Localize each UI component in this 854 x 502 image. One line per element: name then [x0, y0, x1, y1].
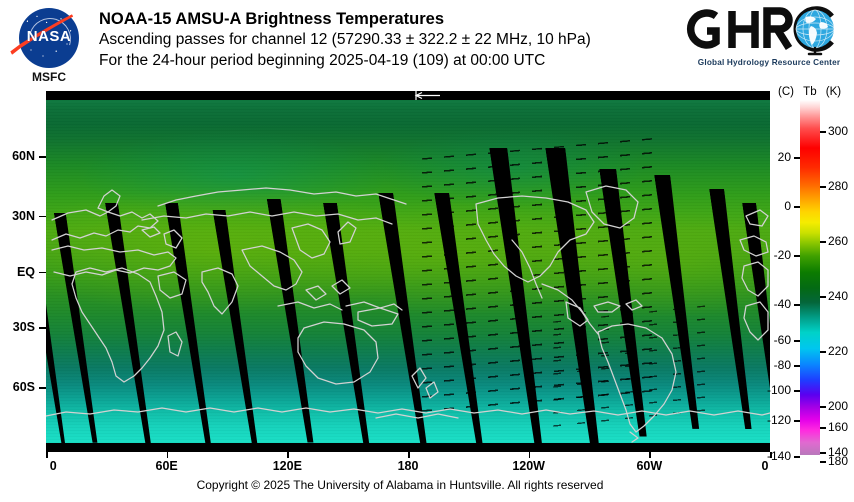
cb-tick-c [794, 365, 800, 367]
map-panel[interactable] [46, 91, 770, 452]
title-block: NOAA-15 AMSU-A Brightness Temperatures A… [99, 9, 679, 71]
lat-tick [39, 387, 46, 389]
cb-tick-k [820, 406, 826, 408]
cb-tick-k [820, 427, 826, 429]
coastline-overlay [46, 100, 770, 443]
cb-label-c-m80: -80 [774, 358, 791, 372]
subtitle-channel: Ascending passes for channel 12 (57290.3… [99, 29, 679, 50]
lon-tick [287, 452, 289, 458]
visualization-page: NASA MSFC NOAA-15 AMSU-A Brightness Temp… [0, 0, 854, 502]
cb-label-c-m100: -100 [767, 383, 791, 397]
cb-label-k-140: 140 [828, 445, 848, 459]
longitude-axis: 0 60E 120E 180 120W 60W 0 [46, 452, 770, 478]
cb-tick-k [820, 131, 826, 133]
lon-tick [649, 452, 651, 458]
cb-tick-c [794, 206, 800, 208]
map-pointer-icon [410, 91, 444, 100]
cb-label-c-m140: -140 [767, 449, 791, 463]
lon-label-0w: 0 [50, 459, 57, 473]
lon-label-120w: 120W [512, 459, 545, 473]
lon-label-120e: 120E [273, 459, 302, 473]
lon-tick [46, 452, 48, 458]
cb-tick-c [794, 304, 800, 306]
cb-tick-k [820, 186, 826, 188]
cb-label-c-m120: -120 [767, 413, 791, 427]
nasa-logo: NASA MSFC [10, 6, 88, 86]
lat-tick [39, 272, 46, 274]
lat-label-60s: 60S [13, 380, 35, 394]
ghrc-tagline: Global Hydrology Resource Center [687, 58, 851, 67]
lat-label-30s: 30S [13, 320, 35, 334]
subtitle-period: For the 24-hour period beginning 2025-04… [99, 50, 679, 71]
cb-tick-c [794, 157, 800, 159]
colorbar-header: (C) Tb (K) [778, 86, 854, 98]
cb-tick-k [820, 351, 826, 353]
ghrc-logo: Global Hydrology Resource Center [685, 6, 851, 78]
cb-label-k-220: 220 [828, 344, 848, 358]
lat-label-30n: 30N [12, 209, 35, 223]
lat-tick [39, 327, 46, 329]
cb-label-c-m40: -40 [774, 297, 791, 311]
lon-label-60w: 60W [636, 459, 662, 473]
cb-label-c-20: 20 [778, 150, 791, 164]
cb-label-k-300: 300 [828, 124, 848, 138]
lat-label-eq: EQ [17, 265, 35, 279]
brightness-temperature-field [46, 100, 770, 443]
lon-tick [167, 452, 169, 458]
lat-tick [39, 216, 46, 218]
lon-tick [408, 452, 410, 458]
nasa-center-label: MSFC [10, 70, 88, 84]
copyright-notice: Copyright © 2025 The University of Alaba… [0, 478, 800, 492]
cb-tick-c [794, 456, 800, 458]
lon-label-60e: 60E [156, 459, 178, 473]
cb-label-k-240: 240 [828, 289, 848, 303]
cb-tick-k [820, 296, 826, 298]
colorbar-gradient[interactable] [800, 100, 820, 455]
colorbar-variable: Tb [803, 86, 816, 98]
cb-tick-c [794, 255, 800, 257]
cb-label-k-200: 200 [828, 399, 848, 413]
ghrc-wordmark-icon [685, 4, 851, 56]
lon-label-180: 180 [398, 459, 419, 473]
cb-tick-c [794, 390, 800, 392]
cb-tick-k [820, 241, 826, 243]
cb-label-k-280: 280 [828, 179, 848, 193]
cb-label-c-0: 0 [784, 199, 791, 213]
cb-tick-k [820, 452, 826, 454]
page-title: NOAA-15 AMSU-A Brightness Temperatures [99, 9, 679, 29]
lon-tick [529, 452, 531, 458]
cb-tick-c [794, 420, 800, 422]
cb-tick-k [820, 461, 826, 463]
colorbar-unit-celsius: (C) [778, 86, 794, 98]
nasa-wordmark: NASA [10, 28, 88, 45]
cb-label-c-m20: -20 [774, 248, 791, 262]
lat-label-60n: 60N [12, 149, 35, 163]
cb-label-k-160: 160 [828, 420, 848, 434]
cb-label-c-m60: -60 [774, 333, 791, 347]
colorbar-unit-kelvin: (K) [826, 86, 841, 98]
lat-tick [39, 156, 46, 158]
latitude-axis: 60N 30N EQ 30S 60S [0, 91, 46, 452]
cb-tick-c [794, 340, 800, 342]
cb-label-k-260: 260 [828, 234, 848, 248]
